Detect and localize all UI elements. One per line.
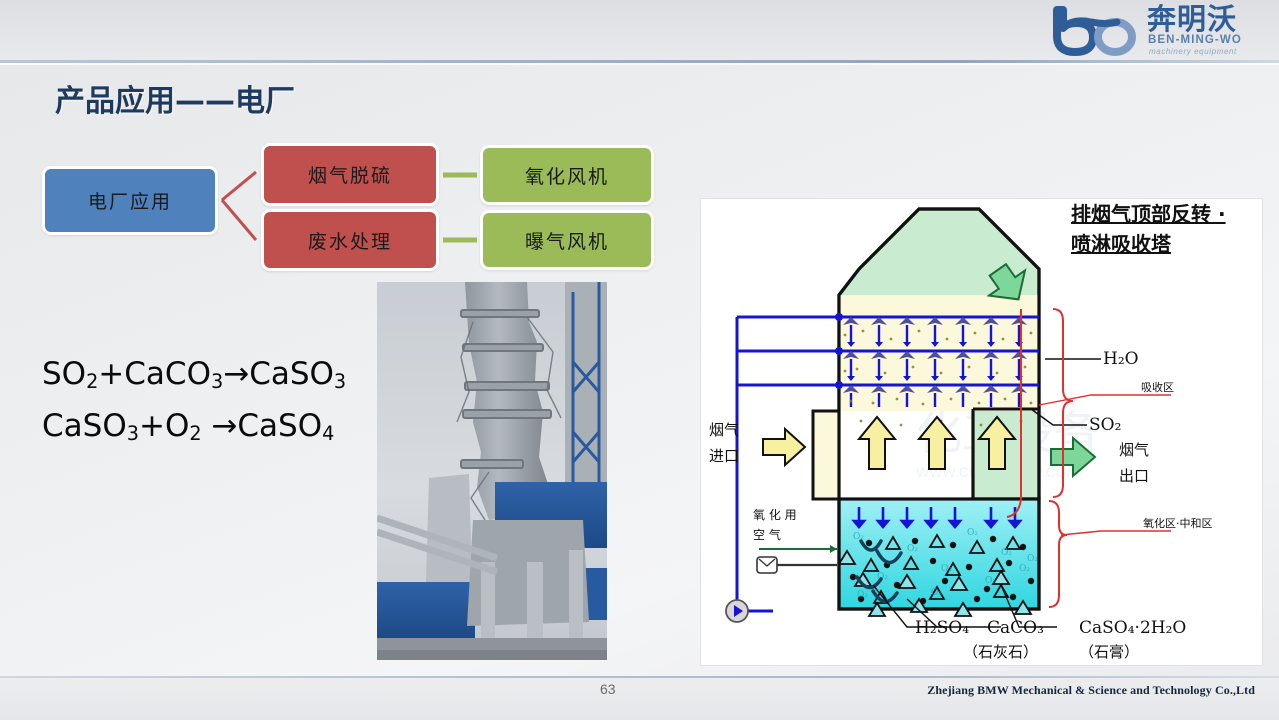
eq2-reactant-b: O	[165, 408, 189, 444]
company-logo: 奔明沃 BEN-MING-WO machinery equipment	[1051, 4, 1261, 58]
spray-tower-diagram: 化工设备 WWW.CHEMEQUIP.COM	[700, 198, 1263, 666]
label-gypsum: CaSO₄·2H₂O	[1079, 618, 1186, 638]
slide-root: 奔明沃 BEN-MING-WO machinery equipment 产品应用…	[0, 0, 1279, 720]
flow-node-wastewater[interactable]: 废水处理	[261, 209, 439, 271]
inlet-arrow-icon	[763, 429, 805, 465]
svg-text:O₂: O₂	[941, 564, 952, 574]
eq2-product: CaSO	[237, 408, 322, 444]
eq1-arrow: →	[223, 356, 249, 392]
svg-text:O₂: O₂	[985, 576, 996, 586]
logo-english-name: BEN-MING-WO	[1148, 34, 1242, 46]
svg-text:O₂: O₂	[857, 590, 868, 600]
label-inlet-line2: 进口	[709, 447, 739, 465]
footer-company-name: Zhejiang BMW Mechanical & Science and Te…	[927, 683, 1255, 698]
eq1-sub-a: 2	[86, 370, 98, 393]
gas-up-arrows	[859, 417, 1015, 469]
label-inlet-line1: 烟气	[709, 421, 739, 439]
diagram-title-line2: 喷淋吸收塔	[1071, 232, 1172, 256]
label-caco3-note: （石灰石）	[963, 643, 1038, 661]
oxidation-air-arrow	[830, 545, 837, 553]
diagram-title-line1: 排烟气顶部反转 ·	[1071, 202, 1226, 226]
label-h2so4: H₂SO₄	[915, 618, 969, 638]
logo-tagline: machinery equipment	[1149, 47, 1237, 56]
chemical-equations: SO2+CaCO3→CaSO3 CaSO3+O2 →CaSO4	[42, 352, 346, 456]
eq2-sub-b: 2	[189, 422, 201, 445]
label-absorption-zone: 吸收区	[1141, 380, 1174, 394]
svg-text:O₂: O₂	[931, 588, 942, 598]
label-h2o: H₂O	[1103, 349, 1139, 369]
eq2-plus: +	[139, 408, 165, 444]
eq1-plus: +	[98, 356, 124, 392]
flow-node-aeration-fan[interactable]: 曝气风机	[480, 210, 654, 270]
equation-line-1: SO2+CaCO3→CaSO3	[42, 352, 346, 404]
svg-text:O₂: O₂	[1001, 548, 1012, 558]
svg-text:O₂: O₂	[1027, 554, 1038, 564]
label-outlet-line2: 出口	[1119, 467, 1149, 485]
label-outlet-line1: 烟气	[1119, 441, 1149, 459]
eq1-sub-b: 3	[211, 370, 223, 393]
svg-text:O₂: O₂	[907, 544, 918, 554]
label-gypsum-note: （石膏）	[1079, 643, 1139, 661]
label-so2: SO₂	[1089, 415, 1121, 435]
agitator-motor-icon	[757, 557, 837, 573]
recirculation-pump-icon	[726, 600, 748, 622]
flowchart: 电厂应用 烟气脱硫 废水处理 氧化风机 曝气风机	[0, 0, 700, 290]
eq1-sub-p: 3	[334, 370, 346, 393]
plant-photo	[377, 282, 607, 660]
label-oxidation-neutral-zone: 氧化区·中和区	[1143, 516, 1213, 530]
bo-monogram-icon	[1051, 6, 1145, 56]
flow-node-desulfurization[interactable]: 烟气脱硫	[261, 143, 439, 206]
eq2-reactant-a: CaSO	[42, 408, 127, 444]
svg-text:O₂: O₂	[967, 528, 978, 538]
tower-spray-zone	[839, 295, 1039, 411]
label-caco3: CaCO₃	[987, 618, 1044, 638]
oxidation-zone-brace	[1049, 501, 1067, 607]
diagram-title: 排烟气顶部反转 · 喷淋吸收塔	[1071, 202, 1226, 256]
label-oxidation-air-line1: 氧 化 用	[753, 508, 797, 522]
flow-node-root[interactable]: 电厂应用	[42, 166, 218, 235]
tower-inlet-duct	[813, 411, 839, 499]
eq2-arrow: →	[211, 408, 237, 444]
eq1-reactant-b: CaCO	[124, 356, 211, 392]
logo-chinese-name: 奔明沃	[1147, 4, 1237, 34]
plant-photo-illustration	[377, 282, 607, 660]
flow-node-oxidation-fan[interactable]: 氧化风机	[480, 145, 654, 205]
connector-root-to-branch1	[222, 172, 256, 200]
spray-tower-svg: 化工设备 WWW.CHEMEQUIP.COM	[701, 199, 1263, 666]
label-oxidation-air-line2: 空 气	[753, 527, 781, 542]
eq1-reactant-a: SO	[42, 356, 86, 392]
page-number: 63	[600, 681, 616, 697]
eq2-sub-a: 3	[127, 422, 139, 445]
svg-text:O₂: O₂	[1019, 564, 1030, 574]
diagram-zone-labels: 吸收区 氧化区·中和区	[1141, 380, 1213, 530]
eq1-product: CaSO	[249, 356, 334, 392]
connector-root-to-branch2	[222, 200, 256, 240]
equation-line-2: CaSO3+O2 →CaSO4	[42, 404, 346, 456]
eq2-sub-p: 4	[322, 422, 334, 445]
